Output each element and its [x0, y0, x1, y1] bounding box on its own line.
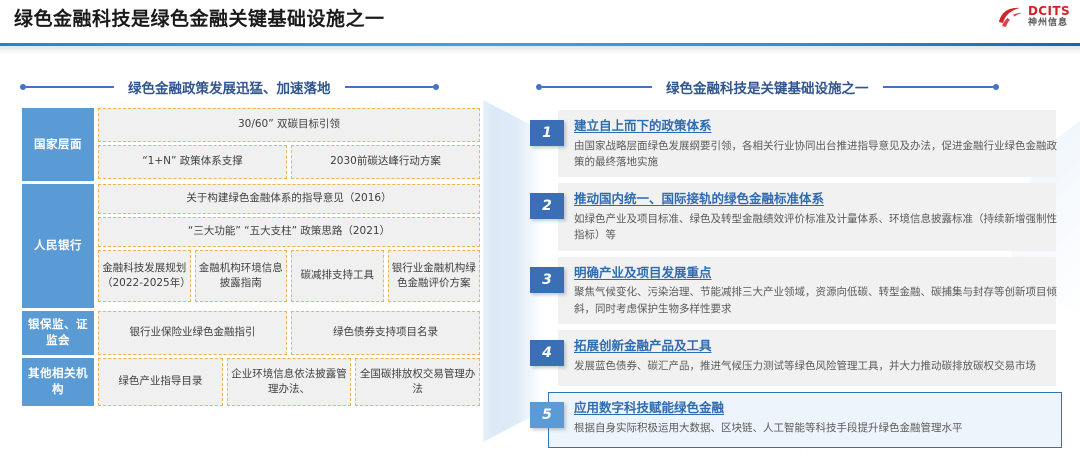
- rule-right: [345, 86, 433, 88]
- matrix-cell: 金融科技发展规划（2022-2025年）: [98, 250, 191, 302]
- matrix-subrow: 金融科技发展规划（2022-2025年） 金融机构环境信息披露指南 碳减排支持工…: [98, 250, 480, 302]
- key-points-list: 1 建立自上而下的政策体系 由国家战略层面绿色发展纲要引领，各相关行业协同出台推…: [528, 110, 1068, 454]
- section-header-right-label: 绿色金融科技是关键基础设施之一: [652, 77, 883, 97]
- matrix-row: 国家层面 30/60” 双碳目标引领 “1+N” 政策体系支撑 2030前碳达峰…: [22, 108, 480, 181]
- matrix-cell: “三大功能” “五大支柱” 政策思路（2021）: [98, 217, 480, 247]
- matrix-cell: 绿色产业指导目录: [98, 358, 223, 406]
- section-header-left-label: 绿色金融政策发展迅猛、加速落地: [114, 77, 345, 97]
- item-body: 发展蓝色债券、碳汇产品，推进气候压力测试等绿色风险管理工具，并大力推动碳排放碳权…: [574, 358, 1058, 374]
- item-number-badge: 1: [530, 120, 564, 146]
- matrix-row: 银保监、证监会 银行业保险业绿色金融指引 绿色债券支持项目名录: [22, 311, 480, 355]
- matrix-row-label: 国家层面: [22, 108, 94, 181]
- rule-right: [883, 86, 993, 88]
- bullet-dot-icon: [433, 84, 439, 90]
- matrix-cell: 银行业保险业绿色金融指引: [98, 311, 287, 355]
- item-title: 应用数字科技赋能绿色金融: [574, 400, 724, 415]
- page-title: 绿色金融科技是绿色金融关键基础设施之一: [14, 4, 385, 31]
- matrix-row: 人民银行 关于构建绿色金融体系的指导意见（2016） “三大功能” “五大支柱”…: [22, 184, 480, 308]
- matrix-subrow: 绿色产业指导目录 企业环境信息依法披露管理办法、 全国碳排放权交易管理办法: [98, 358, 480, 406]
- matrix-cell: 绿色债券支持项目名录: [291, 311, 480, 355]
- matrix-subrow: 关于构建绿色金融体系的指导意见（2016）: [98, 184, 480, 214]
- item-title: 明确产业及项目发展重点: [574, 265, 712, 280]
- section-header-left: 绿色金融政策发展迅猛、加速落地: [20, 78, 490, 96]
- brand-logo: DCITS 神州信息: [997, 5, 1070, 28]
- item-body: 根据自身实际积极运用大数据、区块链、人工智能等科技手段提升绿色金融管理水平: [574, 420, 1058, 436]
- rule-left: [542, 86, 652, 88]
- item-title: 建立自上而下的政策体系: [574, 118, 712, 133]
- rule-left: [26, 86, 114, 88]
- item-body: 如绿色产业及项目标准、绿色及转型金融绩效评价标准及计量体系、环境信息披露标准（持…: [574, 211, 1058, 244]
- matrix-cell: 全国碳排放权交易管理办法: [355, 358, 480, 406]
- dcits-swoosh-icon: [997, 6, 1023, 28]
- logo-wordmark: DCITS 神州信息: [1028, 5, 1070, 28]
- matrix-row-label: 人民银行: [22, 184, 94, 308]
- item-title: 推动国内统一、国际接轨的绿色金融标准体系: [574, 191, 824, 206]
- matrix-subrow: 30/60” 双碳目标引领: [98, 108, 480, 142]
- item-number-badge: 2: [530, 193, 564, 219]
- matrix-row-label: 其他相关机构: [22, 358, 94, 406]
- matrix-cell: 关于构建绿色金融体系的指导意见（2016）: [98, 184, 480, 214]
- matrix-cell: 2030前碳达峰行动方案: [291, 145, 480, 179]
- matrix-cell: “1+N” 政策体系支撑: [98, 145, 287, 179]
- section-header-right: 绿色金融科技是关键基础设施之一: [536, 78, 1064, 96]
- item-body: 由国家战略层面绿色发展纲要引领，各相关行业协同出台推进指导意见及办法，促进金融行…: [574, 138, 1058, 171]
- list-item: 2 推动国内统一、国际接轨的绿色金融标准体系 如绿色产业及项目标准、绿色及转型金…: [528, 183, 1068, 250]
- item-body: 聚焦气候变化、污染治理、节能减排三大产业领域，资源向低碳、转型金融、碳捕集与封存…: [574, 284, 1058, 317]
- logo-en: DCITS: [1028, 5, 1070, 17]
- matrix-cell: 金融机构环境信息披露指南: [195, 250, 288, 302]
- bullet-dot-icon: [993, 84, 999, 90]
- matrix-cell: 企业环境信息依法披露管理办法、: [227, 358, 352, 406]
- matrix-subrow: 银行业保险业绿色金融指引 绿色债券支持项目名录: [98, 311, 480, 355]
- item-number-badge: 4: [530, 340, 564, 366]
- item-number-badge: 3: [530, 267, 564, 293]
- list-item: 3 明确产业及项目发展重点 聚焦气候变化、污染治理、节能减排三大产业领域，资源向…: [528, 257, 1068, 324]
- policy-matrix: 国家层面 30/60” 双碳目标引领 “1+N” 政策体系支撑 2030前碳达峰…: [22, 108, 480, 406]
- logo-cn: 神州信息: [1028, 19, 1070, 28]
- matrix-row-label: 银保监、证监会: [22, 311, 94, 355]
- divider-shadow: [0, 46, 1080, 54]
- matrix-cell: 碳减排支持工具: [291, 250, 384, 302]
- matrix-subrow: “三大功能” “五大支柱” 政策思路（2021）: [98, 217, 480, 247]
- list-item-highlighted: 5 应用数字科技赋能绿色金融 根据自身实际积极运用大数据、区块链、人工智能等科技…: [528, 392, 1068, 448]
- matrix-cell: 30/60” 双碳目标引领: [98, 108, 480, 142]
- matrix-subrow: “1+N” 政策体系支撑 2030前碳达峰行动方案: [98, 145, 480, 179]
- list-item: 1 建立自上而下的政策体系 由国家战略层面绿色发展纲要引领，各相关行业协同出台推…: [528, 110, 1068, 177]
- matrix-row: 其他相关机构 绿色产业指导目录 企业环境信息依法披露管理办法、 全国碳排放权交易…: [22, 358, 480, 406]
- list-item: 4 拓展创新金融产品及工具 发展蓝色债券、碳汇产品，推进气候压力测试等绿色风险管…: [528, 330, 1068, 386]
- matrix-cell: 银行业金融机构绿色金融评价方案: [388, 250, 481, 302]
- item-title: 拓展创新金融产品及工具: [574, 338, 712, 353]
- item-number-badge: 5: [530, 402, 564, 428]
